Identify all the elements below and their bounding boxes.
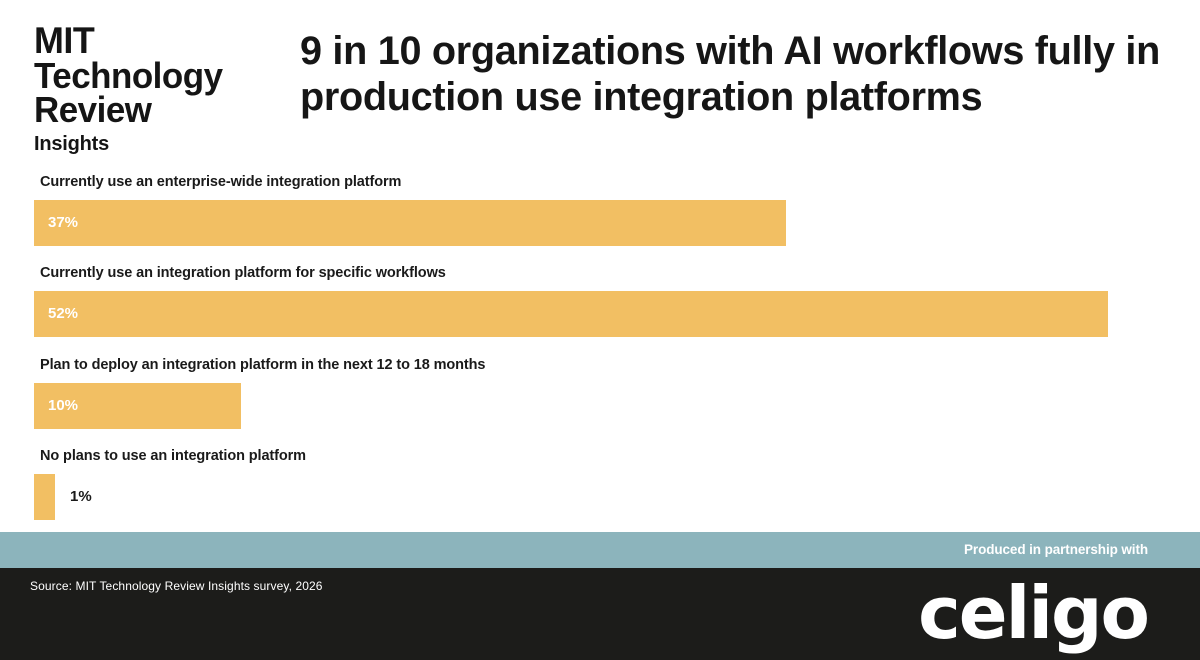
bar-track: 10% <box>34 383 241 429</box>
mit-technology-review-logo: MIT Technology Review Insights <box>34 24 284 156</box>
logo-line-technology: Technology <box>34 59 277 93</box>
bar-value-label: 10% <box>48 383 78 429</box>
logo-line-insights: Insights <box>34 133 284 156</box>
bar-value-label: 1% <box>70 474 92 520</box>
bar-track: 1% <box>34 474 55 520</box>
bar-category-label: Plan to deploy an integration platform i… <box>40 357 485 373</box>
infographic-page: MIT Technology Review Insights 9 in 10 o… <box>0 0 1200 660</box>
bar-fill: 10% <box>34 383 241 429</box>
bar-category-label: Currently use an enterprise-wide integra… <box>40 174 401 190</box>
bar-chart: Currently use an enterprise-wide integra… <box>0 160 1200 532</box>
bar-fill: 52% <box>34 291 1108 337</box>
source-note: Source: MIT Technology Review Insights s… <box>30 579 323 593</box>
bar-fill: 37% <box>34 200 786 246</box>
bar-value-label: 37% <box>48 200 78 246</box>
footer-bar: Source: MIT Technology Review Insights s… <box>0 568 1200 660</box>
logo-line-review: Review <box>34 93 277 127</box>
bar-value-label: 52% <box>48 291 78 337</box>
bar-category-label: No plans to use an integration platform <box>40 448 306 464</box>
bar-track: 37% <box>34 200 786 246</box>
partnership-label: Produced in partnership with <box>964 532 1148 568</box>
logo-line-mit: MIT <box>34 24 277 59</box>
bar-track: 52% <box>34 291 1108 337</box>
celigo-logo: celigo <box>918 572 1148 654</box>
page-title: 9 in 10 organizations with AI workflows … <box>300 28 1171 121</box>
header: MIT Technology Review Insights 9 in 10 o… <box>0 0 1200 160</box>
bar-fill <box>34 474 55 520</box>
bar-category-label: Currently use an integration platform fo… <box>40 265 446 281</box>
partnership-band: Produced in partnership with <box>0 532 1200 568</box>
